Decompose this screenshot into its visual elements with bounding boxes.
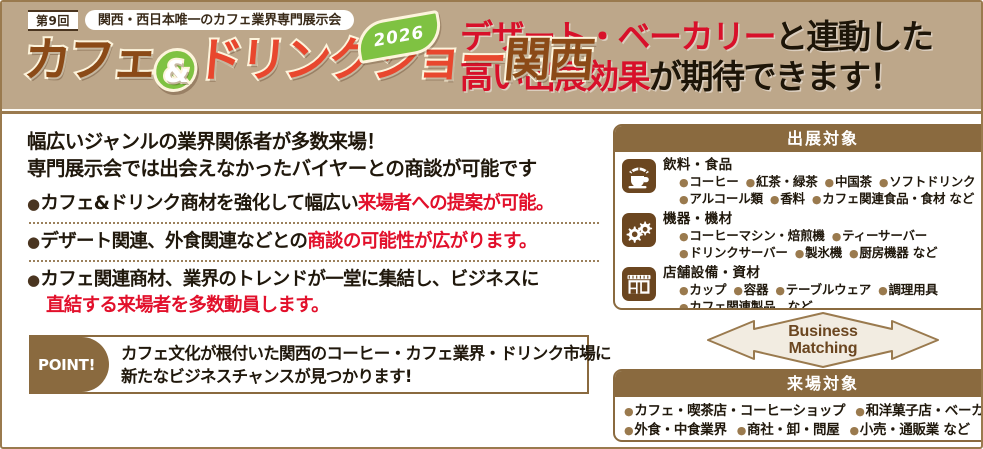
visitor-item: 外食・中食業界 (634, 422, 726, 438)
exhibit-panel-body: 飲料・食品 ●コーヒー●紅茶・緑茶●中国茶●ソフトドリンク ●アルコール類●香料… (615, 152, 983, 310)
item-dot-icon: ● (775, 284, 784, 297)
item-dot-icon: ● (737, 424, 746, 437)
lead-line-2: 専門展示会では出会えなかったバイヤーとの商談が可能です (27, 155, 599, 182)
item-dot-icon: ● (855, 405, 864, 418)
bullet-marker-icon: ● (27, 233, 39, 251)
ampersand-badge: & (151, 48, 199, 92)
point-box: POINT! カフェ文化が根付いた関西のコーヒー・カフェ業界・ドリンク市場に 新… (29, 335, 589, 394)
item-dot-icon: ● (832, 230, 841, 243)
bullet-1-normal: カフェ&ドリンク商材を強化して幅広い (40, 193, 357, 214)
exhibit-category-title: 機器・機材 (663, 211, 983, 228)
exhibit-item: 紅茶・緑茶 (756, 174, 818, 189)
bullet-3-highlight: 直結する来場者を多数動員します。 (46, 295, 329, 316)
bullet-item-1: ●カフェ&ドリンク商材を強化して幅広い来場者への提案が可能。 (27, 191, 599, 217)
exhibit-item: 厨房機器 など (859, 245, 937, 260)
exhibit-item: 調理用具 (889, 282, 938, 297)
event-logo-block: 第9回 関西・西日本唯一のカフェ業界専門展示会 カフェ&ドリンクショー関西 20… (2, 1, 454, 113)
visitor-items-row: ●カフェ・喫茶店・コーヒーショップ●和洋菓子店・ベーカリー店 (624, 402, 983, 421)
exhibit-item: カフェ関連食品・食材 など (822, 191, 974, 206)
item-dot-icon: ● (878, 284, 887, 297)
item-dot-icon: ● (733, 284, 742, 297)
visitor-panel-title: 来場対象 (615, 371, 983, 397)
exhibit-item: 中国茶 (835, 174, 872, 189)
bullet-1-highlight: 来場者への提案が可能。 (358, 193, 554, 214)
edition-badge: 第9回 (28, 10, 78, 31)
visitor-item: 商社・卸・問屋 (747, 422, 839, 438)
visitor-item: カフェ・喫茶店・コーヒーショップ (634, 403, 845, 419)
body-area: 幅広いジャンルの業界関係者が多数来場！ 専門展示会では出会えなかったバイヤーとの… (2, 114, 981, 449)
bullet-list: ●カフェ&ドリンク商材を強化して幅広い来場者への提案が可能。 ●デザート関連、外… (27, 191, 599, 319)
storefront-icon (622, 267, 656, 301)
item-dot-icon: ● (679, 247, 688, 260)
item-dot-icon: ● (679, 176, 688, 189)
item-dot-icon: ● (812, 193, 821, 206)
gears-icon (622, 213, 656, 247)
visitor-panel-body: ●カフェ・喫茶店・コーヒーショップ●和洋菓子店・ベーカリー店 ●外食・中食業界●… (615, 397, 983, 442)
croissant-coffee-icon (622, 159, 656, 193)
item-dot-icon: ● (770, 193, 779, 206)
exhibit-category-items-row: ●カップ●容器●テーブルウェア●調理用具 (663, 282, 983, 299)
exhibit-item: ドリンクサーバー (689, 245, 787, 260)
exhibit-target-panel: 出展対象 (613, 124, 983, 310)
bullet-marker-icon: ● (27, 271, 39, 289)
item-dot-icon: ● (679, 301, 688, 310)
business-matching-shape: Business Matching (707, 312, 939, 368)
right-column: 出展対象 (607, 120, 983, 442)
headline-1-dark: と連動した (775, 17, 933, 56)
exhibit-item: ソフトドリンク (889, 174, 975, 189)
bullet-item-3: ●カフェ関連商材、業界のトレンドが一堂に集結し、ビジネスに (27, 267, 599, 293)
exhibit-item: テーブルウェア (786, 282, 871, 297)
exhibit-category-items-row: ●アルコール類●香料●カフェ関連食品・食材 など (663, 191, 983, 208)
exhibit-category-title: 飲料・食品 (663, 157, 983, 174)
exhibit-panel-title: 出展対象 (615, 126, 983, 152)
exhibit-category-content: 店舗設備・資材 ●カップ●容器●テーブルウェア●調理用具 ●カフェ関連製品 など (663, 265, 983, 310)
bullet-2-normal: デザート関連、外食関連などとの (40, 231, 307, 252)
tagline-pill: 関西・西日本唯一のカフェ業界専門展示会 (85, 10, 354, 30)
item-dot-icon: ● (825, 176, 834, 189)
bullet-separator-1 (29, 222, 599, 224)
business-matching-line-1: Business (707, 323, 939, 340)
exhibit-item: コーヒー (689, 174, 738, 189)
exhibit-item: ティーサーバー (842, 228, 927, 243)
exhibit-item: カフェ関連製品 など (689, 299, 812, 310)
bullet-2-highlight: 商談の可能性が広がります。 (307, 231, 537, 252)
item-dot-icon: ● (679, 193, 688, 206)
exhibit-item: カップ (689, 282, 726, 297)
exhibit-category-items-row: ●カフェ関連製品 など (663, 299, 983, 310)
item-dot-icon: ● (624, 424, 633, 437)
exhibit-category-row: 飲料・食品 ●コーヒー●紅茶・緑茶●中国茶●ソフトドリンク ●アルコール類●香料… (622, 157, 983, 208)
visitor-item: 小売・通販業 など (860, 422, 970, 438)
item-dot-icon: ● (746, 176, 755, 189)
logo-top-row: 第9回 関西・西日本唯一のカフェ業界専門展示会 (28, 10, 354, 31)
bullet-separator-2 (29, 260, 599, 262)
point-badge: POINT! (31, 337, 109, 392)
item-dot-icon: ● (679, 284, 688, 297)
poster-root: 第9回 関西・西日本唯一のカフェ業界専門展示会 カフェ&ドリンクショー関西 20… (0, 0, 983, 449)
left-column: 幅広いジャンルの業界関係者が多数来場！ 専門展示会では出会えなかったバイヤーとの… (9, 120, 607, 442)
lead-line-1: 幅広いジャンルの業界関係者が多数来場！ (27, 128, 599, 155)
visitor-target-panel: 来場対象 ●カフェ・喫茶店・コーヒーショップ●和洋菓子店・ベーカリー店 ●外食・… (613, 369, 983, 442)
logo-text-drinkshow: ドリンクショー (194, 33, 507, 88)
bullet-item-2: ●デザート関連、外食関連などとの商談の可能性が広がります。 (27, 229, 599, 255)
item-dot-icon: ● (679, 230, 688, 243)
exhibit-item: 製氷機 (805, 245, 842, 260)
item-dot-icon: ● (879, 176, 888, 189)
bullet-marker-icon: ● (27, 195, 39, 213)
exhibit-category-content: 飲料・食品 ●コーヒー●紅茶・緑茶●中国茶●ソフトドリンク ●アルコール類●香料… (663, 157, 983, 208)
exhibit-item: コーヒーマシン・焙煎機 (689, 228, 824, 243)
item-dot-icon: ● (849, 424, 858, 437)
item-dot-icon: ● (624, 405, 633, 418)
exhibit-category-items-row: ●ドリンクサーバー●製氷機●厨房機器 など (663, 245, 983, 262)
logo-text-kansai: 関西 (502, 33, 595, 88)
business-matching-label: Business Matching (707, 323, 939, 357)
point-text-line-1: カフェ文化が根付いた関西のコーヒー・カフェ業界・ドリンク市場に (121, 342, 611, 365)
exhibit-category-content: 機器・機材 ●コーヒーマシン・焙煎機●ティーサーバー ●ドリンクサーバー●製氷機… (663, 211, 983, 262)
point-text: カフェ文化が根付いた関西のコーヒー・カフェ業界・ドリンク市場に 新たなビジネスチ… (109, 342, 619, 388)
item-dot-icon: ● (849, 247, 858, 260)
business-matching-arrow: Business Matching (613, 312, 983, 368)
visitor-items-row: ●外食・中食業界●商社・卸・問屋●小売・通販業 など (624, 421, 983, 440)
logo-text-cafe: カフェ (22, 33, 159, 88)
exhibit-item: 香料 (780, 191, 805, 206)
exhibit-item: アルコール類 (689, 191, 762, 206)
header-banner: 第9回 関西・西日本唯一のカフェ業界専門展示会 カフェ&ドリンクショー関西 20… (2, 2, 981, 114)
exhibit-category-row: 機器・機材 ●コーヒーマシン・焙煎機●ティーサーバー ●ドリンクサーバー●製氷機… (622, 211, 983, 262)
bullet-3-normal: カフェ関連商材、業界のトレンドが一堂に集結し、ビジネスに (40, 269, 538, 290)
exhibit-category-items-row: ●コーヒー●紅茶・緑茶●中国茶●ソフトドリンク (663, 174, 983, 191)
exhibit-category-row: 店舗設備・資材 ●カップ●容器●テーブルウェア●調理用具 ●カフェ関連製品 など (622, 265, 983, 310)
event-logo-title: カフェ&ドリンクショー関西 (21, 32, 594, 92)
visitor-item: 和洋菓子店・ベーカリー店 (866, 403, 983, 419)
exhibit-category-title: 店舗設備・資材 (663, 265, 983, 282)
exhibit-item: 容器 (744, 282, 769, 297)
headline-2-dark: が期待できます！ (649, 57, 901, 96)
item-dot-icon: ● (795, 247, 804, 260)
point-text-line-2: 新たなビジネスチャンスが見つかります! (121, 365, 611, 388)
bullet-item-3-line2: 直結する来場者を多数動員します。 (27, 293, 599, 319)
business-matching-line-2: Matching (707, 340, 939, 357)
exhibit-category-items-row: ●コーヒーマシン・焙煎機●ティーサーバー (663, 228, 983, 245)
